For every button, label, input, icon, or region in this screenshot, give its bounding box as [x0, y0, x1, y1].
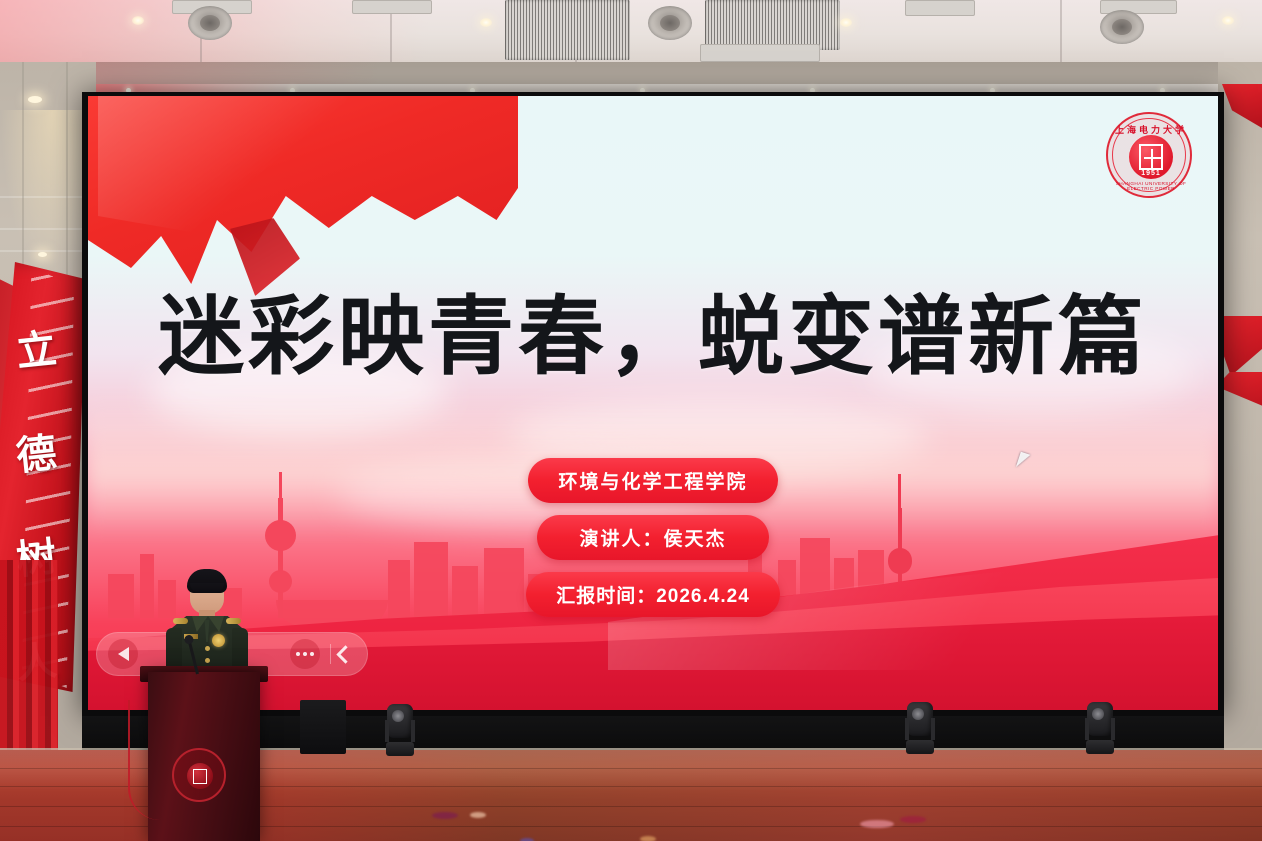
red-flag-fold [230, 218, 300, 296]
air-diffuser [648, 6, 692, 40]
floor-reflection [860, 820, 894, 828]
air-vent [352, 0, 432, 14]
control-divider [330, 644, 331, 664]
logo-name-en: SHANGHAI UNIVERSITY OF ELECTRIC POWER [1107, 181, 1195, 191]
epaulet [173, 618, 188, 624]
air-diffuser [1100, 10, 1144, 44]
floor-reflection [470, 812, 486, 818]
moving-head-light [905, 702, 935, 754]
downlight [840, 18, 852, 27]
floor-reflection [432, 812, 458, 819]
moving-head-light [385, 704, 415, 756]
right-wall [1218, 62, 1262, 762]
air-vent [700, 44, 820, 62]
more-dots-icon[interactable] [290, 639, 320, 669]
stage-curtain [0, 560, 58, 762]
moving-head-light [1085, 702, 1115, 754]
air-vent [905, 0, 975, 16]
epaulet [226, 618, 241, 624]
uniform-medal [212, 634, 225, 647]
badge-department: 环境与化学工程学院 [528, 458, 777, 503]
banner-char-2: 德 [13, 420, 59, 482]
podium-university-emblem [172, 748, 226, 802]
air-diffuser [188, 6, 232, 40]
slide-badge-list: 环境与化学工程学院 演讲人：侯天杰 汇报时间：2026.4.24 [88, 458, 1218, 617]
downlight [132, 16, 144, 25]
badge-date: 汇报时间：2026.4.24 [526, 572, 780, 617]
badge-speaker: 演讲人：侯天杰 [537, 515, 769, 560]
led-screen[interactable]: 迷彩映青春，蜕变谱新篇 环境与化学工程学院 演讲人：侯天杰 汇报时间：2026.… [88, 96, 1218, 710]
presenter [170, 572, 244, 678]
floor-reflection [900, 816, 926, 823]
downlight [1222, 16, 1234, 25]
university-logo: 上海电力大学 1951 SHANGHAI UNIVERSITY OF ELECT… [1106, 112, 1192, 198]
wall-downlight [38, 252, 47, 257]
wall-downlight [28, 96, 42, 103]
slide-title: 迷彩映青春，蜕变谱新篇 [88, 292, 1218, 383]
downlight [480, 18, 492, 27]
power-cable [128, 700, 160, 820]
play-previous-icon[interactable] [108, 639, 138, 669]
air-vent [705, 0, 840, 50]
logo-year: 1951 [1108, 170, 1194, 177]
floor-reflection [640, 836, 656, 841]
banner-char-1: 立 [13, 316, 59, 378]
presenter-hair [187, 569, 227, 593]
equipment-case [300, 700, 346, 754]
logo-gate-mark [1139, 144, 1163, 170]
chevron-left-icon[interactable] [341, 648, 368, 661]
air-vent [505, 0, 630, 60]
auditorium-scene: 立 德 树 人 [0, 0, 1262, 841]
